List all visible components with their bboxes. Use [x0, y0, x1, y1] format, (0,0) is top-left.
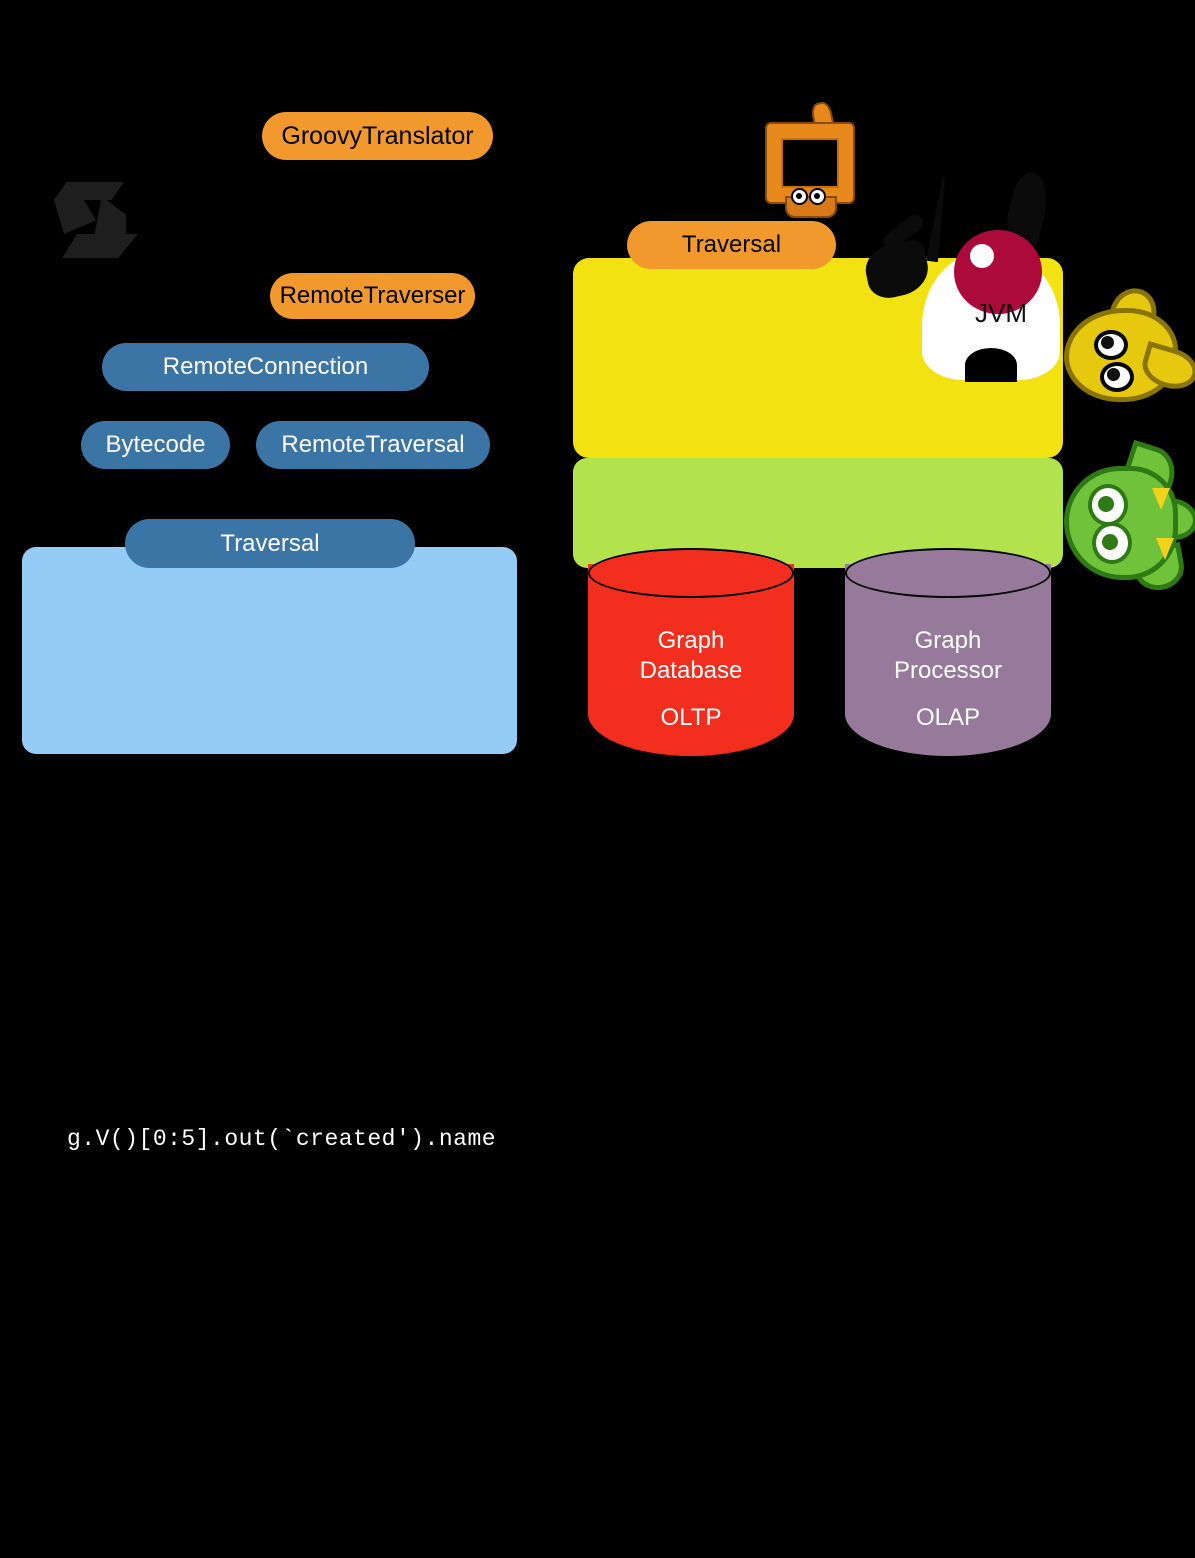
- badge-label: RemoteConnection: [163, 353, 368, 381]
- badge-traversal-left[interactable]: Traversal: [125, 519, 415, 568]
- host-language-label: host/source language: [280, 1258, 510, 1286]
- badge-remote-connection[interactable]: RemoteConnection: [102, 343, 429, 391]
- graph-processor-cylinder: Graph Processor OLAP: [845, 548, 1051, 756]
- cylinder-mode: OLAP: [845, 704, 1051, 732]
- jvm-label: JVM: [956, 298, 1046, 329]
- gremlin-traversal-machine-title: Gremlin Traversal Machine: [1180, 954, 1195, 1062]
- cylinder-top: [845, 548, 1051, 598]
- execution-language-label: execution/target language: [1161, 637, 1195, 691]
- cylinder-name-line2: Database: [588, 656, 794, 686]
- badge-bytecode[interactable]: Bytecode: [81, 421, 230, 469]
- duke-antenna: [926, 176, 950, 263]
- gremlin-yellow-eye-right: [1100, 362, 1134, 392]
- cylinder-name-line2: Processor: [845, 656, 1051, 686]
- tinkerpop-logo: [48, 178, 144, 260]
- gremlin-frame-window: [781, 138, 839, 188]
- gremlin-frame-eye-left: [791, 188, 808, 205]
- cylinder-mode: OLTP: [588, 704, 794, 732]
- diagram-canvas: GroovyTranslator RemoteTraverser RemoteC…: [0, 0, 1195, 779]
- cylinder-top: [588, 548, 794, 598]
- duke-nose-highlight: [970, 244, 994, 268]
- gremlin-green-mascot: [1060, 452, 1190, 602]
- badge-traversal-right[interactable]: Traversal: [627, 221, 836, 269]
- host-language-box: ython g.V()[0:5].out(`created').name hos…: [22, 547, 517, 754]
- badge-label: GroovyTranslator: [281, 122, 473, 151]
- badge-label: Bytecode: [105, 431, 205, 459]
- badge-groovy-translator[interactable]: GroovyTranslator: [262, 112, 493, 160]
- cylinder-name-line1: Graph: [845, 626, 1051, 656]
- badge-label: RemoteTraversal: [281, 431, 464, 459]
- gremlin-green-eye-left: [1088, 484, 1128, 526]
- gremlin-yellow-eye-left: [1094, 330, 1128, 360]
- badge-label: Traversal: [682, 231, 781, 259]
- gremlin-code-snippet: g.V()[0:5].out(`created').name: [67, 1126, 496, 1152]
- gremlin-green-eye-right: [1092, 522, 1132, 564]
- gremlin-frame-eye-right: [809, 188, 826, 205]
- gremlin-green-head: [1064, 466, 1178, 580]
- badge-label: RemoteTraverser: [280, 282, 466, 310]
- graph-database-cylinder: Graph Database OLTP: [588, 548, 794, 756]
- java-duke-mascot: JVM: [860, 180, 1075, 395]
- badge-remote-traverser[interactable]: RemoteTraverser: [270, 273, 475, 319]
- gremlin-frame-mascot: [755, 100, 859, 225]
- cylinder-name: Graph Processor: [845, 626, 1051, 686]
- python-logo: ython: [55, 1159, 291, 1251]
- cylinder-name-line1: Graph: [588, 626, 794, 656]
- gremlin-yellow-mascot: [1058, 292, 1190, 412]
- badge-label: Traversal: [220, 530, 319, 558]
- badge-remote-traversal[interactable]: RemoteTraversal: [256, 421, 490, 469]
- cylinder-name: Graph Database: [588, 626, 794, 686]
- duke-arm: [861, 238, 932, 302]
